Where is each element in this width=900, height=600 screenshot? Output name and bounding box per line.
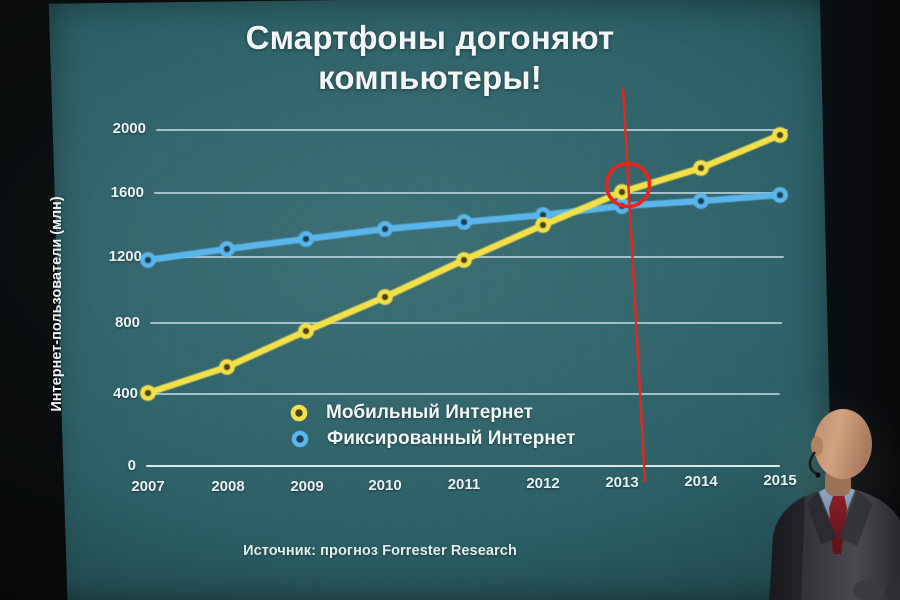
data-point-fixed-2010 <box>379 223 390 234</box>
data-point-mobile-2011 <box>458 254 469 265</box>
legend-label-fixed: Фиксированный Интернет <box>327 428 575 450</box>
y-tick-0: 0 <box>66 457 136 474</box>
title-line-1: Смартфоны догоняют <box>170 18 690 58</box>
data-point-fixed-2014 <box>695 195 706 206</box>
page-title: Смартфоны догоняют компьютеры! <box>170 18 690 99</box>
data-point-mobile-2010 <box>379 291 390 302</box>
presenter-figure <box>757 404 900 600</box>
data-point-fixed-2015 <box>774 189 785 200</box>
data-point-fixed-2007 <box>142 254 153 265</box>
data-point-mobile-2012 <box>537 219 548 230</box>
data-point-fixed-2009 <box>300 233 311 244</box>
data-point-fixed-2011 <box>458 216 469 227</box>
chart-plot-area: 2000 1600 1200 800 400 0 2007 2008 2009 … <box>128 100 788 500</box>
title-line-2: компьютеры! <box>170 58 690 98</box>
data-point-fixed-2008 <box>221 243 232 254</box>
presenter-silhouette <box>757 404 900 600</box>
presenter-hand-right <box>853 579 885 600</box>
legend-marker-fixed-icon <box>289 428 311 450</box>
legend-label-mobile: Мобильный Интернет <box>326 402 533 424</box>
today-vertical-line <box>623 88 645 482</box>
data-point-mobile-2015 <box>774 129 785 140</box>
legend-item-fixed: Фиксированный Интернет <box>289 426 575 452</box>
data-point-mobile-2008 <box>221 361 232 372</box>
legend-marker-mobile-icon <box>288 402 310 424</box>
data-point-mobile-2009 <box>300 325 311 336</box>
y-axis-label: Интернет-пользователи (млн) <box>49 184 65 424</box>
screenshot-stage: Смартфоны догоняют компьютеры! Интернет-… <box>0 0 900 600</box>
chart-legend: Мобильный Интернет Фиксированный Интерне… <box>288 400 575 452</box>
legend-item-mobile: Мобильный Интернет <box>288 400 575 426</box>
presenter-shadow <box>769 496 805 600</box>
data-point-mobile-2014 <box>695 162 706 173</box>
headset-mic-capsule-icon <box>815 472 820 477</box>
series-mobile-internet <box>142 129 785 398</box>
data-point-mobile-2013 <box>616 186 627 197</box>
source-note: Источник: прогноз Forrester Research <box>0 543 760 559</box>
data-point-mobile-2007 <box>142 387 153 398</box>
